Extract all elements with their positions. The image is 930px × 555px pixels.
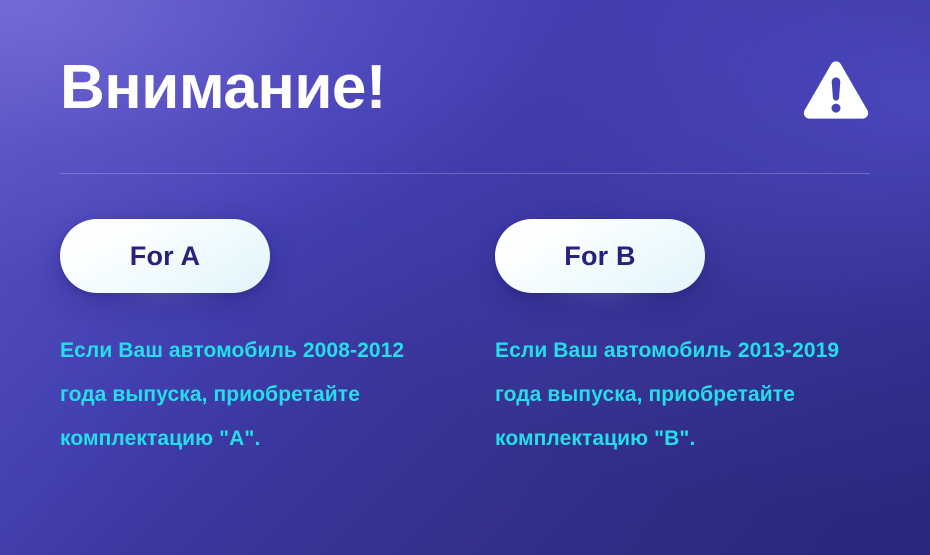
attention-banner: Внимание! For A Если Ваш автомобиль 2008… xyxy=(0,0,930,555)
for-a-button[interactable]: For A xyxy=(60,219,270,293)
option-a-description: Если Ваш автомобиль 2008-2012 года выпус… xyxy=(60,329,450,461)
warning-triangle-icon xyxy=(802,60,870,122)
header-divider xyxy=(60,173,870,174)
for-a-button-label: For A xyxy=(130,243,201,270)
for-b-button[interactable]: For B xyxy=(495,219,705,293)
option-b-button-wrap: For B xyxy=(495,219,705,293)
for-b-button-label: For B xyxy=(564,243,636,270)
banner-content: Внимание! For A Если Ваш автомобиль 2008… xyxy=(0,0,930,555)
page-title: Внимание! xyxy=(60,52,870,124)
banner-header: Внимание! xyxy=(60,52,870,144)
option-a-button-wrap: For A xyxy=(60,219,270,293)
option-column-a: For A Если Ваш автомобиль 2008-2012 года… xyxy=(60,219,455,461)
option-column-b: For B Если Ваш автомобиль 2013-2019 года… xyxy=(495,219,890,461)
option-b-description: Если Ваш автомобиль 2013-2019 года выпус… xyxy=(495,329,885,461)
